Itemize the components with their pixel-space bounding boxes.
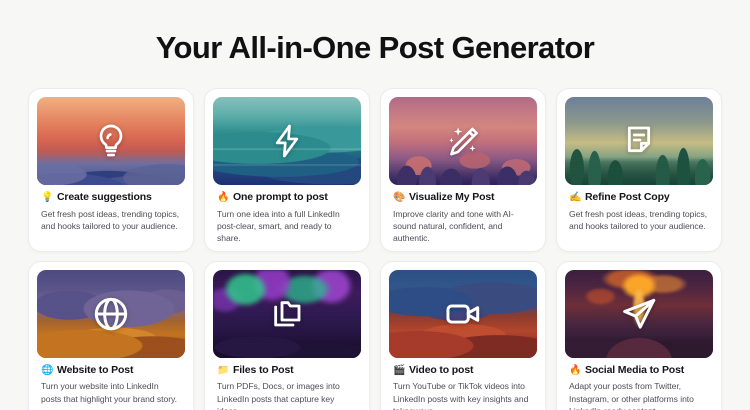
card-body: ✍️ Refine Post Copy Get fresh post ideas… xyxy=(565,185,713,232)
send-paper-plane-icon xyxy=(618,293,660,335)
folder-emoji: 📁 xyxy=(217,366,228,376)
lightbulb-icon xyxy=(91,121,131,161)
card-heading: 🎨 Visualize My Post xyxy=(393,192,533,204)
card-description: Turn your website into LinkedIn posts th… xyxy=(41,380,181,405)
card-heading: 🔥 One prompt to post xyxy=(217,192,357,204)
feature-card-website-to-post[interactable]: 🌐 Website to Post Turn your website into… xyxy=(28,261,194,410)
magic-wand-icon xyxy=(442,120,484,162)
card-description: Turn PDFs, Docs, or images into LinkedIn… xyxy=(217,380,357,410)
card-title: Refine Post Copy xyxy=(585,192,670,204)
card-heading: 🔥 Social Media to Post xyxy=(569,365,709,377)
card-heading: 📁 Files to Post xyxy=(217,365,357,377)
card-description: Get fresh post ideas, trending topics, a… xyxy=(41,208,181,233)
card-body: 🔥 Social Media to Post Adapt your posts … xyxy=(565,358,713,410)
feature-card-grid: 💡 Create suggestions Get fresh post idea… xyxy=(28,88,722,410)
page-title: Your All-in-One Post Generator xyxy=(28,30,722,66)
card-body: 💡 Create suggestions Get fresh post idea… xyxy=(37,185,185,232)
light-bulb-emoji: 💡 xyxy=(41,193,52,203)
card-title: Visualize My Post xyxy=(409,192,494,204)
card-title: Files to Post xyxy=(233,365,293,377)
feature-card-visualize-my-post[interactable]: 🎨 Visualize My Post Improve clarity and … xyxy=(380,88,546,252)
card-thumbnail xyxy=(565,97,713,185)
card-description: Turn one idea into a full LinkedIn post-… xyxy=(217,208,357,245)
card-thumbnail xyxy=(37,270,185,358)
copy-folder-icon xyxy=(267,294,307,334)
card-heading: 🌐 Website to Post xyxy=(41,365,181,377)
card-heading: ✍️ Refine Post Copy xyxy=(569,192,709,204)
feature-card-files-to-post[interactable]: 📁 Files to Post Turn PDFs, Docs, or imag… xyxy=(204,261,370,410)
card-thumbnail xyxy=(565,270,713,358)
card-body: 🎬 Video to post Turn YouTube or TikTok v… xyxy=(389,358,537,410)
feature-card-create-suggestions[interactable]: 💡 Create suggestions Get fresh post idea… xyxy=(28,88,194,252)
card-title: One prompt to post xyxy=(233,192,328,204)
card-title: Create suggestions xyxy=(57,192,152,204)
card-thumbnail xyxy=(389,97,537,185)
card-thumbnail xyxy=(389,270,537,358)
card-description: Get fresh post ideas, trending topics, a… xyxy=(569,208,709,233)
card-body: 🔥 One prompt to post Turn one idea into … xyxy=(213,185,361,245)
card-thumbnail xyxy=(213,270,361,358)
card-body: 🎨 Visualize My Post Improve clarity and … xyxy=(389,185,537,245)
feature-card-video-to-post[interactable]: 🎬 Video to post Turn YouTube or TikTok v… xyxy=(380,261,546,410)
globe-icon xyxy=(90,293,132,335)
writing-hand-emoji: ✍️ xyxy=(569,193,580,203)
card-title: Video to post xyxy=(409,365,473,377)
card-thumbnail xyxy=(213,97,361,185)
card-heading: 💡 Create suggestions xyxy=(41,192,181,204)
card-body: 📁 Files to Post Turn PDFs, Docs, or imag… xyxy=(213,358,361,410)
feature-card-refine-post-copy[interactable]: ✍️ Refine Post Copy Get fresh post ideas… xyxy=(556,88,722,252)
post-generator-page: Your All-in-One Post Generator 💡 Crea xyxy=(0,0,750,410)
card-description: Turn YouTube or TikTok videos into Linke… xyxy=(393,380,533,410)
palette-emoji: 🎨 xyxy=(393,193,404,203)
globe-emoji: 🌐 xyxy=(41,366,52,376)
fire-emoji: 🔥 xyxy=(569,366,580,376)
lightning-bolt-icon xyxy=(268,122,306,160)
card-thumbnail xyxy=(37,97,185,185)
card-body: 🌐 Website to Post Turn your website into… xyxy=(37,358,185,405)
feature-card-one-prompt-to-post[interactable]: 🔥 One prompt to post Turn one idea into … xyxy=(204,88,370,252)
video-camera-icon xyxy=(442,293,484,335)
flame-emoji: 🔥 xyxy=(217,193,228,203)
note-document-icon xyxy=(619,121,659,161)
clapper-board-emoji: 🎬 xyxy=(393,366,404,376)
card-title: Website to Post xyxy=(57,365,133,377)
card-heading: 🎬 Video to post xyxy=(393,365,533,377)
card-description: Adapt your posts from Twitter, Instagram… xyxy=(569,380,709,410)
card-description: Improve clarity and tone with AI-sound n… xyxy=(393,208,533,245)
card-title: Social Media to Post xyxy=(585,365,684,377)
feature-card-social-media-to-post[interactable]: 🔥 Social Media to Post Adapt your posts … xyxy=(556,261,722,410)
